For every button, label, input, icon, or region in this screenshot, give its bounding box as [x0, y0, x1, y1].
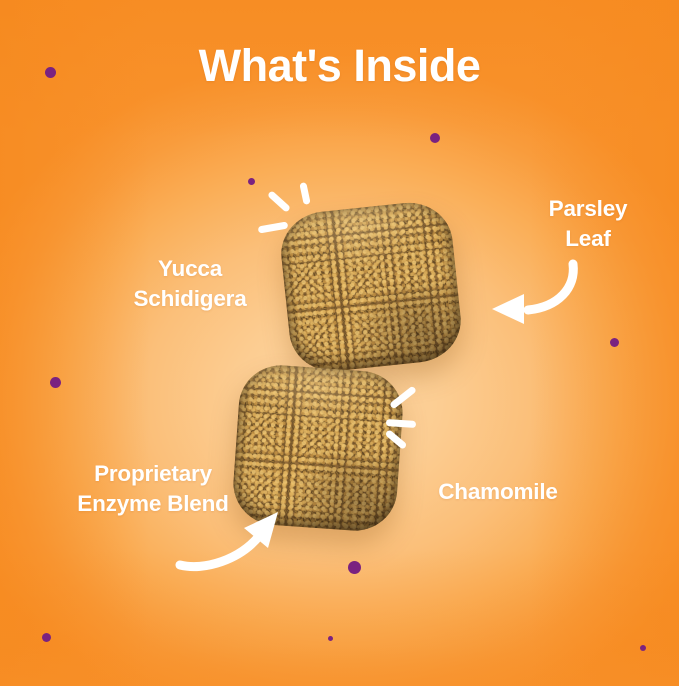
- decorative-dot: [610, 338, 619, 347]
- decorative-dot: [42, 633, 51, 642]
- decorative-dot: [45, 67, 56, 78]
- decorative-dot: [328, 636, 333, 641]
- decorative-dot: [248, 178, 255, 185]
- decorative-dot: [348, 561, 361, 574]
- arrow-icon-parsley: [466, 258, 586, 328]
- decorative-dot: [430, 133, 440, 143]
- page-title: What's Inside: [0, 41, 679, 91]
- sparkle-burst-icon: [258, 190, 322, 250]
- ingredient-label-chamomile: Chamomile: [398, 477, 598, 507]
- ingredient-label-parsley: Parsley Leaf: [498, 194, 678, 254]
- decorative-dot: [640, 645, 646, 651]
- infographic-canvas: What's Inside Parsley Leaf Yucca Schidig…: [0, 0, 679, 686]
- decorative-dot: [50, 377, 61, 388]
- ingredient-label-enzyme: Proprietary Enzyme Blend: [38, 459, 268, 519]
- sparkle-burst-icon: [386, 386, 446, 448]
- ingredient-label-yucca: Yucca Schidigera: [90, 254, 290, 314]
